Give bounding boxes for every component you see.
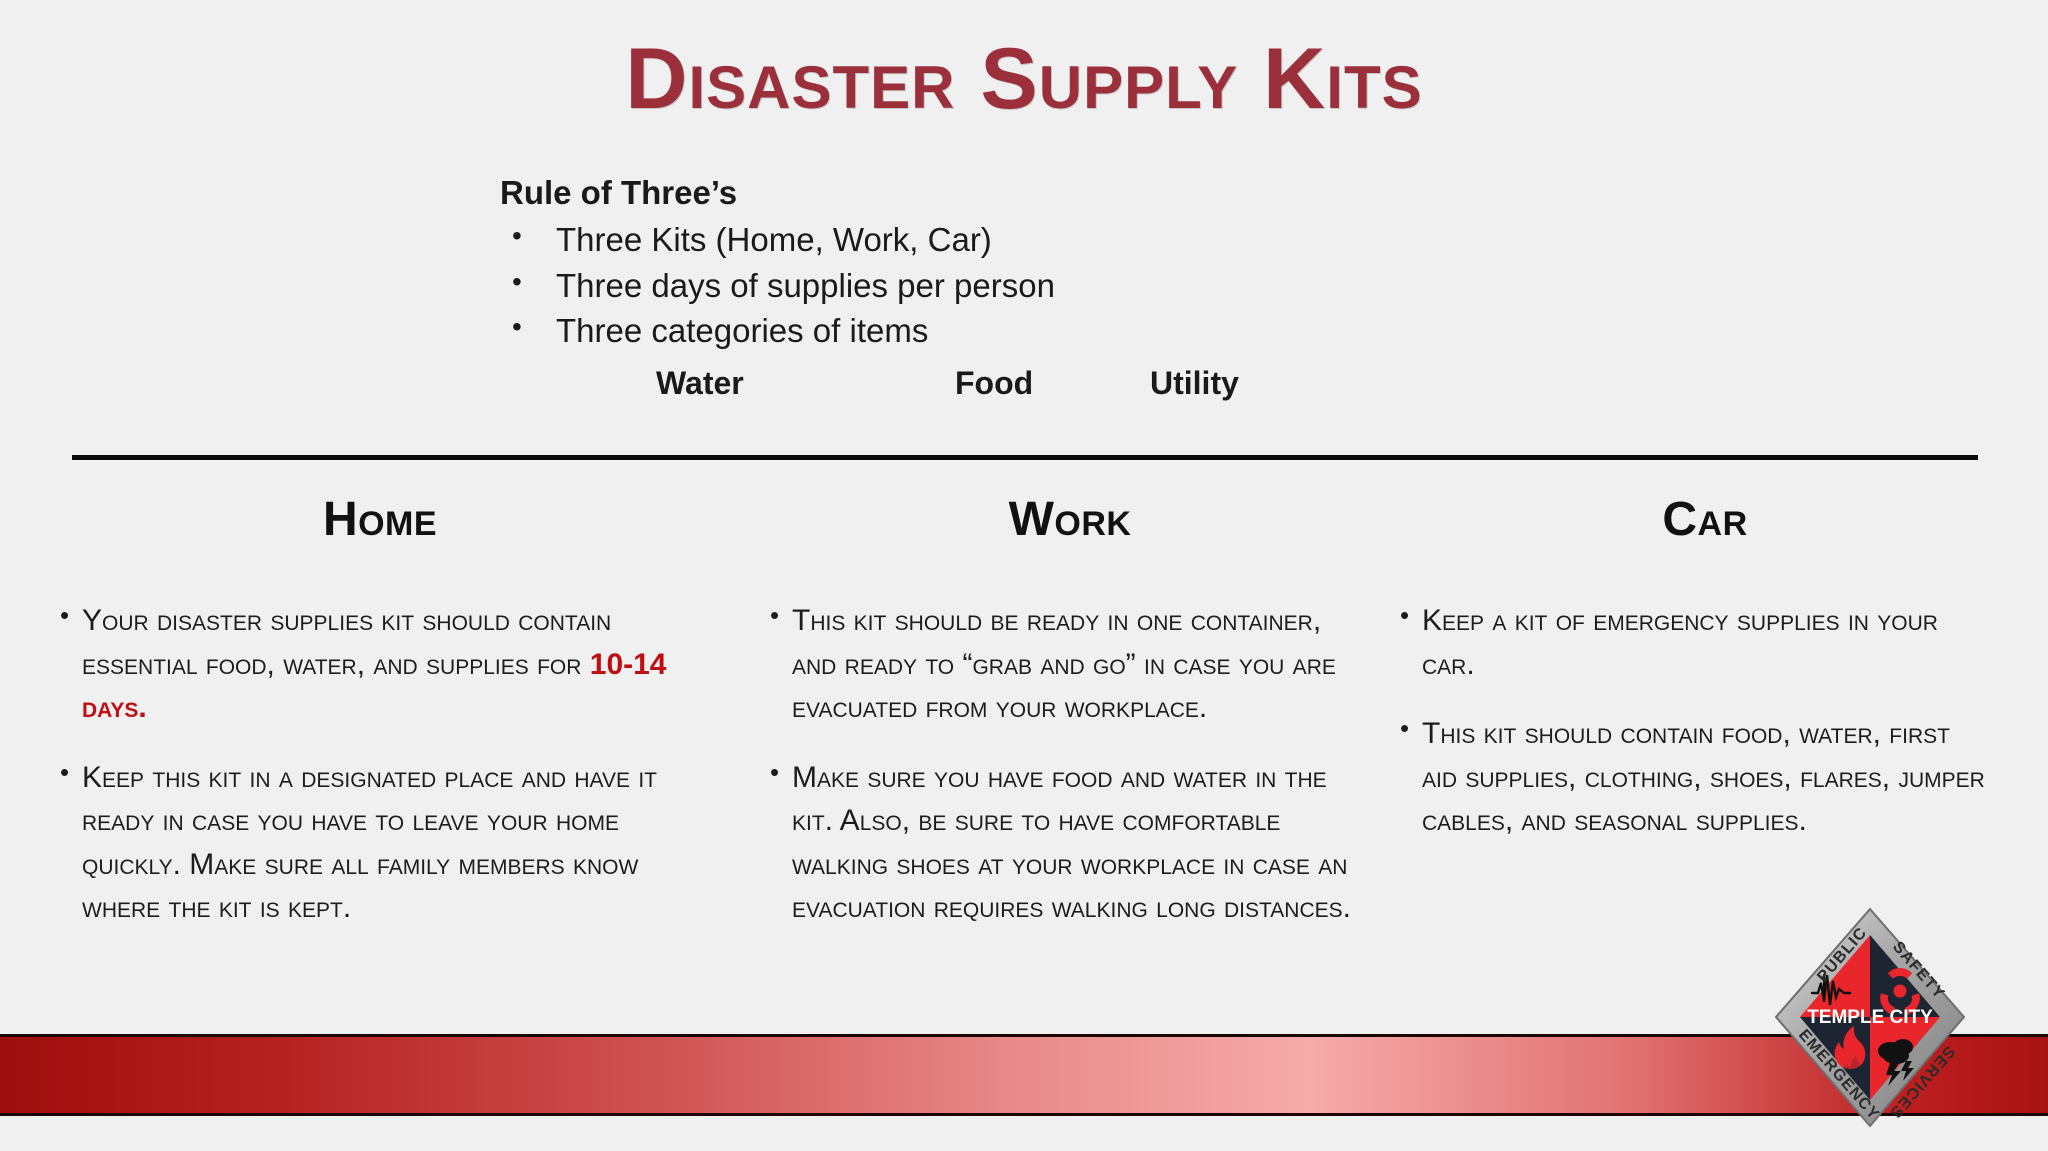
slide-root: Disaster Supply Kits Rule of Three’s • T… xyxy=(0,0,2048,1151)
list-item-text: This kit should contain food, water, fir… xyxy=(1422,717,1985,837)
column-car: Car • Keep a kit of emergency supplies i… xyxy=(1400,492,1990,869)
list-item-label: Three days of supplies per person xyxy=(556,267,1055,304)
list-item-label: Three Kits (Home, Work, Car) xyxy=(556,221,992,258)
horizontal-divider xyxy=(72,455,1978,460)
column-title-home: Home xyxy=(40,492,720,547)
bullet-dot-icon: • xyxy=(770,597,779,635)
column-work: Work • This kit should be ready in one c… xyxy=(770,492,1370,956)
rule-of-threes-heading: Rule of Three’s xyxy=(500,172,1400,213)
temple-city-logo: TEMPLE CITY PUBLIC SAFETY EMERGENCY SERV… xyxy=(1772,905,1968,1130)
category-label-utility: Utility xyxy=(1150,365,1239,402)
category-row: Water Food Utility xyxy=(500,365,1400,411)
column-home: Home • Your disaster supplies kit should… xyxy=(60,492,720,956)
bullet-list-car: • Keep a kit of emergency supplies in yo… xyxy=(1400,599,1990,843)
rule-of-threes-block: Rule of Three’s • Three Kits (Home, Work… xyxy=(500,172,1400,354)
bullet-dot-icon: • xyxy=(770,754,779,792)
category-label-food: Food xyxy=(955,365,1033,402)
list-item-text: Make sure you have food and water in the… xyxy=(792,761,1351,925)
highlight-period: . xyxy=(138,691,146,724)
list-item-label: Three categories of items xyxy=(556,312,928,349)
list-item: • Keep a kit of emergency supplies in yo… xyxy=(1400,599,1990,686)
column-title-work: Work xyxy=(770,492,1370,547)
list-item-text: Keep this kit in a designated place and … xyxy=(82,761,657,925)
bullet-dot-icon: • xyxy=(1400,597,1409,635)
column-title-car: Car xyxy=(1420,492,1990,547)
category-label-water: Water xyxy=(656,365,744,402)
rule-of-threes-list: • Three Kits (Home, Work, Car) • Three d… xyxy=(500,217,1400,354)
bullet-dot-icon: • xyxy=(60,754,69,792)
list-item: • Your disaster supplies kit should cont… xyxy=(60,599,720,730)
bullet-dot-icon: • xyxy=(1400,710,1409,748)
list-item: • Make sure you have food and water in t… xyxy=(770,756,1370,930)
columns-container: Home • Your disaster supplies kit should… xyxy=(0,492,2048,1052)
list-item: • Three categories of items xyxy=(500,308,1400,354)
bottom-gradient-banner xyxy=(0,1034,2048,1116)
list-item-text: Keep a kit of emergency supplies in your… xyxy=(1422,604,1938,681)
bullet-dot-icon: • xyxy=(512,263,522,302)
list-item: • Three Kits (Home, Work, Car) xyxy=(500,217,1400,263)
list-item: • Keep this kit in a designated place an… xyxy=(60,756,720,930)
list-item-text: This kit should be ready in one containe… xyxy=(792,604,1336,724)
bullet-dot-icon: • xyxy=(512,308,522,347)
list-item: • This kit should contain food, water, f… xyxy=(1400,712,1990,843)
list-item-text: Your disaster supplies kit should contai… xyxy=(82,604,611,681)
list-item: • Three days of supplies per person xyxy=(500,263,1400,309)
bullet-list-home: • Your disaster supplies kit should cont… xyxy=(60,599,720,930)
bullet-list-work: • This kit should be ready in one contai… xyxy=(770,599,1370,930)
logo-center-text: TEMPLE CITY xyxy=(1807,1007,1933,1028)
bullet-dot-icon: • xyxy=(512,217,522,256)
bullet-dot-icon: • xyxy=(60,597,69,635)
list-item: • This kit should be ready in one contai… xyxy=(770,599,1370,730)
page-title: Disaster Supply Kits xyxy=(0,34,2048,124)
